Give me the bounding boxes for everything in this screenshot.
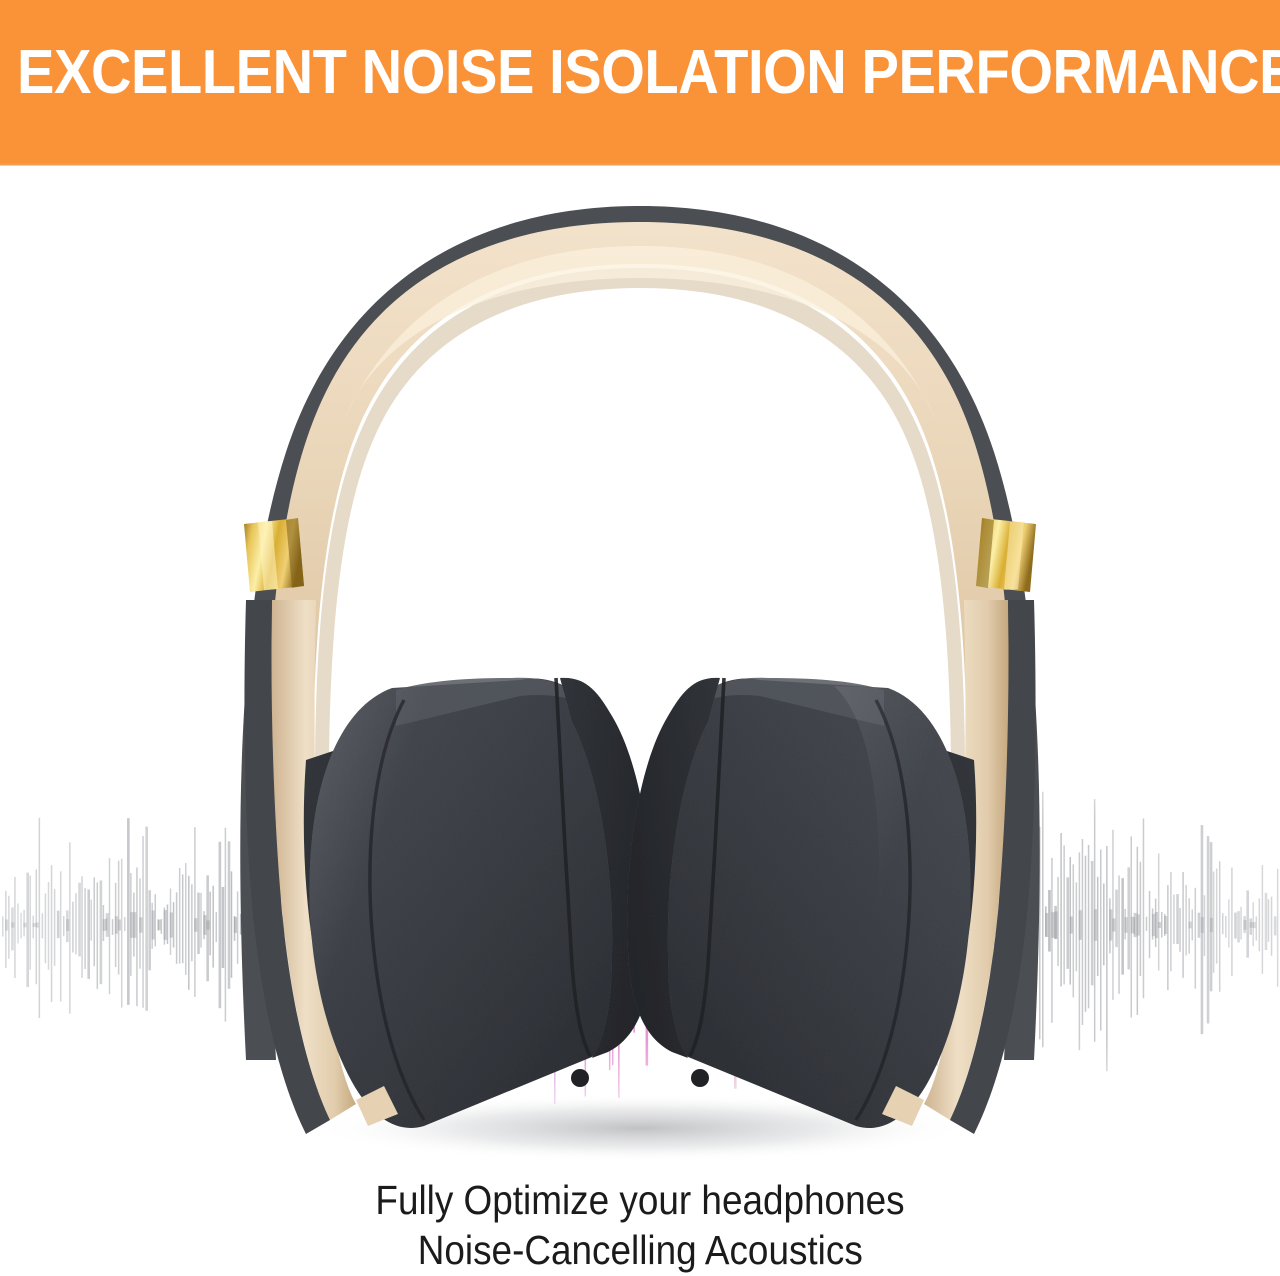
headphones-svg [0,0,1280,1276]
caption-line-1-text: Fully Optimize your headphones [375,1176,904,1224]
product-marketing-image: EXCELLENT NOISE ISOLATION PERFORMANCE [0,0,1280,1276]
earcup-left [304,678,653,1128]
caption-line-2-text: Noise-Cancelling Acoustics [417,1226,862,1274]
hinge-right [976,518,1036,592]
headphones-product-photo [0,0,1280,1276]
caption-line-2: Noise-Cancelling Acoustics [0,1226,1280,1274]
hinge-left [244,518,304,592]
earcup-right-pivot-nub [691,1069,709,1087]
earcup-right [627,678,976,1128]
earcup-left-pivot-nub [571,1069,589,1087]
caption-line-1: Fully Optimize your headphones [0,1176,1280,1224]
